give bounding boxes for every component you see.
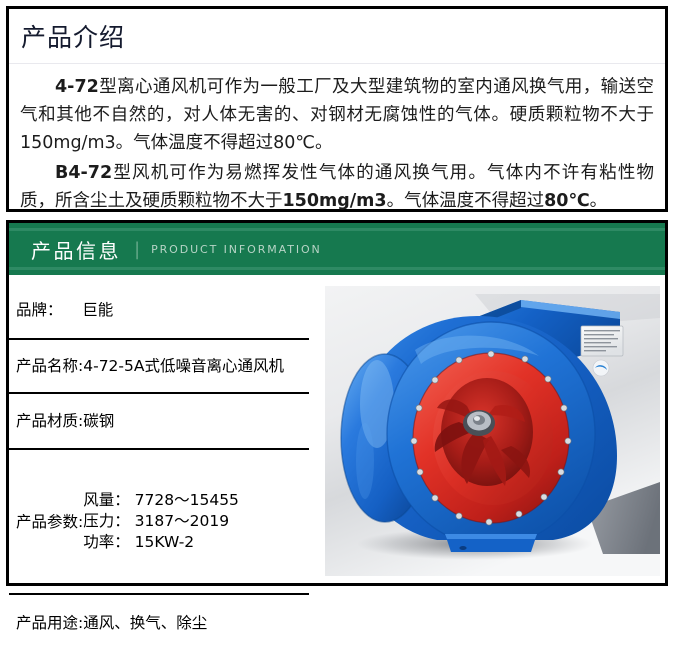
header-content: 产品信息 | PRODUCT INFORMATION bbox=[31, 223, 322, 275]
intro-paragraph-1-text: 型离心通风机可作为一般工厂及大型建筑物的室内通风换气用，输送空气和其他不自然的，… bbox=[20, 77, 654, 153]
page-title: 产品介绍 bbox=[21, 23, 125, 53]
spec-value-product-name: 4-72-5A式低噪音离心通风机 bbox=[83, 357, 284, 375]
model-code-b4-72: B4-72 bbox=[55, 163, 112, 183]
header-separator: | bbox=[134, 239, 140, 260]
spec-label-parameters: 产品参数: bbox=[16, 512, 83, 532]
intro-paragraph-2-text-c: 。 bbox=[590, 191, 608, 211]
drum-highlight-2 bbox=[356, 423, 374, 499]
table-row: 产品材质:碳钢 bbox=[9, 393, 309, 449]
spec-cell-material: 产品材质:碳钢 bbox=[9, 393, 309, 449]
spec-cell-parameters: 产品参数: 风量： 7728～15455 压力： 3187～2019 功率： 1… bbox=[9, 449, 309, 594]
header-title-en: PRODUCT INFORMATION bbox=[151, 243, 322, 256]
base-bolt-hole bbox=[459, 546, 466, 550]
spec-value-brand: 巨能 bbox=[63, 301, 114, 319]
table-row: 品牌： 巨能 bbox=[9, 282, 309, 339]
product-introduction-section: 产品介绍 4-72型离心通风机可作为一般工厂及大型建筑物的室内通风换气用，输送空… bbox=[6, 6, 668, 212]
base-foot-top bbox=[445, 534, 537, 539]
spec-label-usage: 产品用途: bbox=[16, 614, 83, 632]
product-information-header: 产品信息 | PRODUCT INFORMATION bbox=[9, 223, 665, 275]
product-page: 产品介绍 4-72型离心通风机可作为一般工厂及大型建筑物的室内通风换气用，输送空… bbox=[0, 0, 674, 592]
centrifugal-fan-photo bbox=[325, 286, 660, 576]
introduction-body: 4-72型离心通风机可作为一般工厂及大型建筑物的室内通风换气用，输送空气和其他不… bbox=[20, 73, 654, 217]
model-code-4-72: 4-72 bbox=[55, 77, 99, 97]
spec-value-material: 碳钢 bbox=[83, 412, 114, 430]
spec-value-parameters: 风量： 7728～15455 压力： 3187～2019 功率： 15KW-2 bbox=[83, 490, 239, 553]
table-row: 产品名称:4-72-5A式低噪音离心通风机 bbox=[9, 339, 309, 393]
particulate-limit-value: 150mg/m3 bbox=[283, 191, 387, 211]
fan-nameplate bbox=[581, 326, 623, 356]
spec-cell-usage: 产品用途:通风、换气、除尘 bbox=[9, 594, 309, 650]
intro-paragraph-2: B4-72型风机可作为易燃挥发性气体的通风换气用。气体内不许有粘性物质，所含尘土… bbox=[20, 159, 654, 215]
spec-label-product-name: 产品名称: bbox=[16, 357, 83, 375]
spec-value-usage: 通风、换气、除尘 bbox=[83, 614, 207, 632]
specification-table: 品牌： 巨能 产品名称:4-72-5A式低噪音离心通风机 产品材质:碳钢 产品参… bbox=[9, 282, 309, 650]
temperature-limit-value: 80℃ bbox=[544, 191, 590, 211]
spec-label-brand: 品牌： bbox=[16, 301, 63, 319]
table-row: 产品用途:通风、换气、除尘 bbox=[9, 594, 309, 650]
spec-cell-product-name: 产品名称:4-72-5A式低噪音离心通风机 bbox=[9, 339, 309, 393]
shaft-center bbox=[474, 416, 480, 421]
product-information-section: 产品信息 | PRODUCT INFORMATION 品牌： 巨能 产品名称:4… bbox=[6, 220, 668, 586]
parameters-wrapper: 产品参数: 风量： 7728～15455 压力： 3187～2019 功率： 1… bbox=[16, 490, 309, 553]
product-photo-frame bbox=[325, 286, 660, 576]
table-row: 产品参数: 风量： 7728～15455 压力： 3187～2019 功率： 1… bbox=[9, 449, 309, 594]
intro-paragraph-1: 4-72型离心通风机可作为一般工厂及大型建筑物的室内通风换气用，输送空气和其他不… bbox=[20, 73, 654, 157]
intro-paragraph-2-text-b: 。气体温度不得超过 bbox=[387, 191, 545, 211]
title-divider bbox=[9, 63, 665, 64]
spec-label-material: 产品材质: bbox=[16, 412, 83, 430]
header-title-cn: 产品信息 bbox=[31, 235, 121, 264]
spec-cell-brand: 品牌： 巨能 bbox=[9, 282, 309, 339]
brand-sticker-icon bbox=[593, 360, 609, 376]
